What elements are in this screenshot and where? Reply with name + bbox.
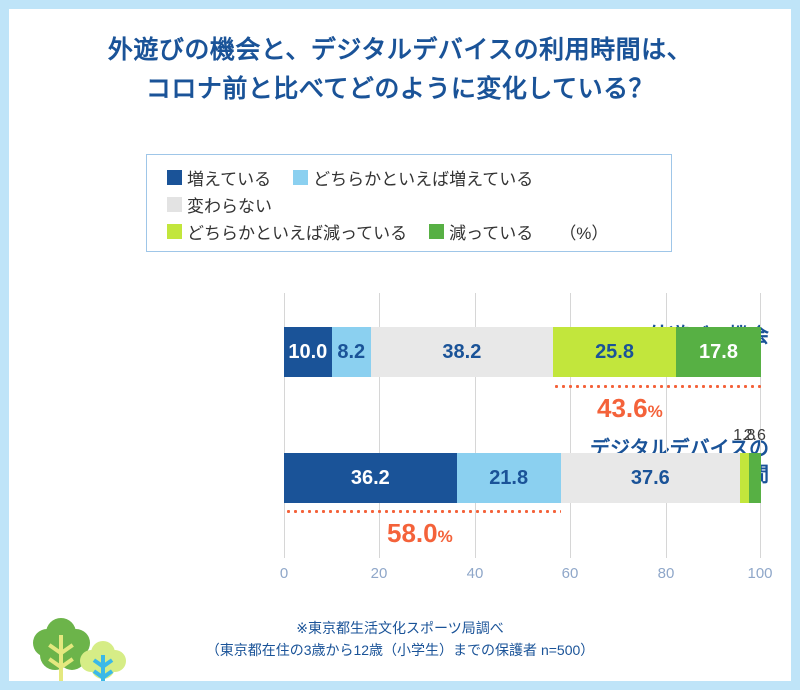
- bar-digital-device: 36.2 21.8 37.6 1.8 2.6: [284, 453, 761, 503]
- stacked-bar-chart: 外遊びの機会 デジタルデバイスの 利用時間 10.0 8.2: [9, 271, 800, 591]
- xtick-80: 80: [658, 565, 675, 582]
- tree-decoration: [31, 609, 141, 689]
- bar-segment-value: 36.2: [351, 467, 390, 490]
- legend-label-somewhat-decreased: どちらかといえば減っている: [187, 219, 407, 244]
- bar-segment-somewhat-increased: 8.2: [332, 327, 371, 377]
- annotation-line-43-6: [553, 385, 761, 388]
- chart-legend: 増えている どちらかといえば増えている 変わらない どちらかといえば減っている …: [146, 154, 672, 252]
- legend-swatch-decreased: [429, 224, 444, 239]
- legend-label-somewhat-increased: どちらかといえば増えている: [313, 165, 533, 190]
- legend-swatch-increased: [167, 170, 182, 185]
- bar-segment-somewhat-decreased: 25.8: [553, 327, 676, 377]
- bar-segment-value: 21.8: [489, 467, 528, 490]
- bar-outdoor-play: 10.0 8.2 38.2 25.8 17.8: [284, 327, 761, 377]
- bar-segment-value: 37.6: [631, 467, 670, 490]
- legend-item-unchanged: 変わらない: [167, 192, 272, 217]
- xtick-60: 60: [562, 565, 579, 582]
- page-title: 外遊びの機会と、デジタルデバイスの利用時間は、 コロナ前と比べてどのように変化し…: [9, 31, 791, 109]
- legend-swatch-somewhat-decreased: [167, 224, 182, 239]
- bar-segment-value: 25.8: [595, 341, 634, 364]
- plot-area: 10.0 8.2 38.2 25.8 17.8 43.6%: [284, 293, 761, 558]
- legend-item-somewhat-increased: どちらかといえば増えている: [293, 165, 533, 190]
- bar-segment-increased: 36.2: [284, 453, 457, 503]
- trees-icon: [31, 609, 141, 689]
- legend-swatch-unchanged: [167, 197, 182, 212]
- legend-item-decreased: 減っている: [429, 219, 533, 244]
- bar-segment-value: 38.2: [442, 341, 481, 364]
- title-line-1: 外遊びの機会と、デジタルデバイスの利用時間は、: [9, 31, 791, 70]
- legend-item-increased: 増えている: [167, 165, 271, 190]
- legend-unit-label: （%）: [559, 219, 608, 244]
- bar-segment-value: 17.8: [699, 341, 738, 364]
- annotation-line-58-0: [285, 510, 561, 513]
- xtick-0: 0: [280, 565, 288, 582]
- tree-large-icon: [33, 618, 90, 687]
- bar-segment-value: 10.0: [288, 341, 327, 364]
- bar-segment-unchanged: 38.2: [371, 327, 553, 377]
- bar-segment-somewhat-increased: 21.8: [457, 453, 561, 503]
- legend-row-2: 変わらない: [167, 191, 671, 218]
- bar-segment-value-outside: 2.6: [744, 427, 766, 445]
- annotation-percent-sign: %: [438, 527, 453, 546]
- bar-segment-somewhat-decreased: 1.8: [740, 453, 749, 503]
- bar-segment-increased: 10.0: [284, 327, 332, 377]
- legend-row-3: どちらかといえば減っている 減っている （%）: [167, 218, 671, 245]
- bar-segment-unchanged: 37.6: [561, 453, 740, 503]
- infographic-card: 外遊びの機会と、デジタルデバイスの利用時間は、 コロナ前と比べてどのように変化し…: [0, 0, 800, 690]
- legend-label-unchanged: 変わらない: [187, 192, 272, 217]
- legend-swatch-somewhat-increased: [293, 170, 308, 185]
- legend-row-1: 増えている どちらかといえば増えている: [167, 164, 671, 191]
- annotation-value-43-6: 43.6: [597, 393, 648, 423]
- annotation-label-43-6: 43.6%: [597, 393, 663, 424]
- legend-item-somewhat-decreased: どちらかといえば減っている: [167, 219, 407, 244]
- annotation-percent-sign: %: [648, 402, 663, 421]
- bar-segment-value: 8.2: [337, 341, 365, 364]
- annotation-value-58-0: 58.0: [387, 518, 438, 548]
- title-line-2: コロナ前と比べてどのように変化している？: [9, 70, 791, 109]
- xtick-40: 40: [467, 565, 484, 582]
- bar-segment-decreased: 2.6: [749, 453, 761, 503]
- legend-label-increased: 増えている: [187, 165, 271, 190]
- annotation-label-58-0: 58.0%: [387, 518, 453, 549]
- bar-segment-decreased: 17.8: [676, 327, 761, 377]
- xtick-20: 20: [371, 565, 388, 582]
- xtick-100: 100: [747, 565, 772, 582]
- legend-label-decreased: 減っている: [449, 219, 533, 244]
